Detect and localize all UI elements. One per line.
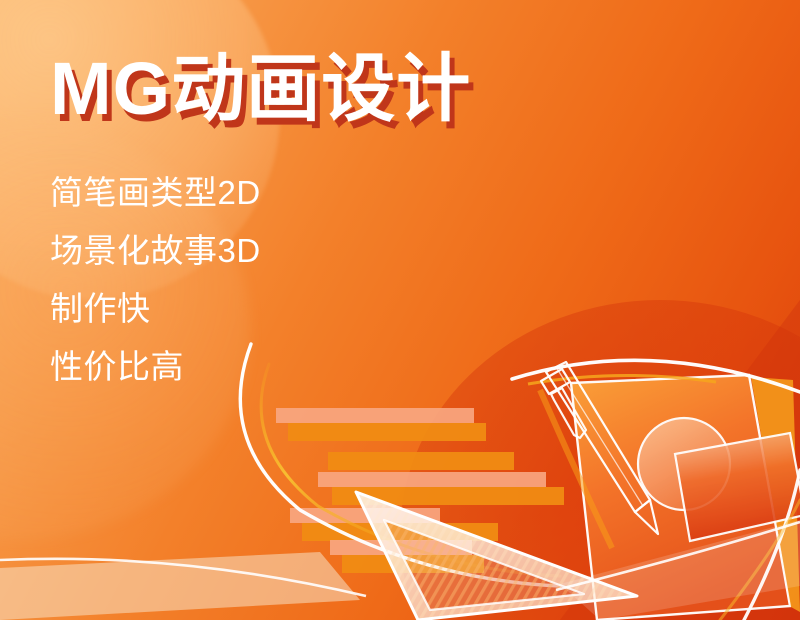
bottom-left-sliver xyxy=(0,552,360,620)
feature-item-2: 场景化故事3D xyxy=(50,234,470,267)
feature-list: 简笔画类型2D 场景化故事3D 制作快 性价比高 xyxy=(50,176,470,408)
feature-item-4: 性价比高 xyxy=(50,350,470,383)
feature-item-3: 制作快 xyxy=(50,292,470,325)
poster-canvas: MG动画设计 简笔画类型2D 场景化故事3D 制作快 性价比高 xyxy=(0,0,800,620)
page-title: MG动画设计 xyxy=(50,48,471,129)
feature-item-1: 简笔画类型2D xyxy=(50,176,470,209)
